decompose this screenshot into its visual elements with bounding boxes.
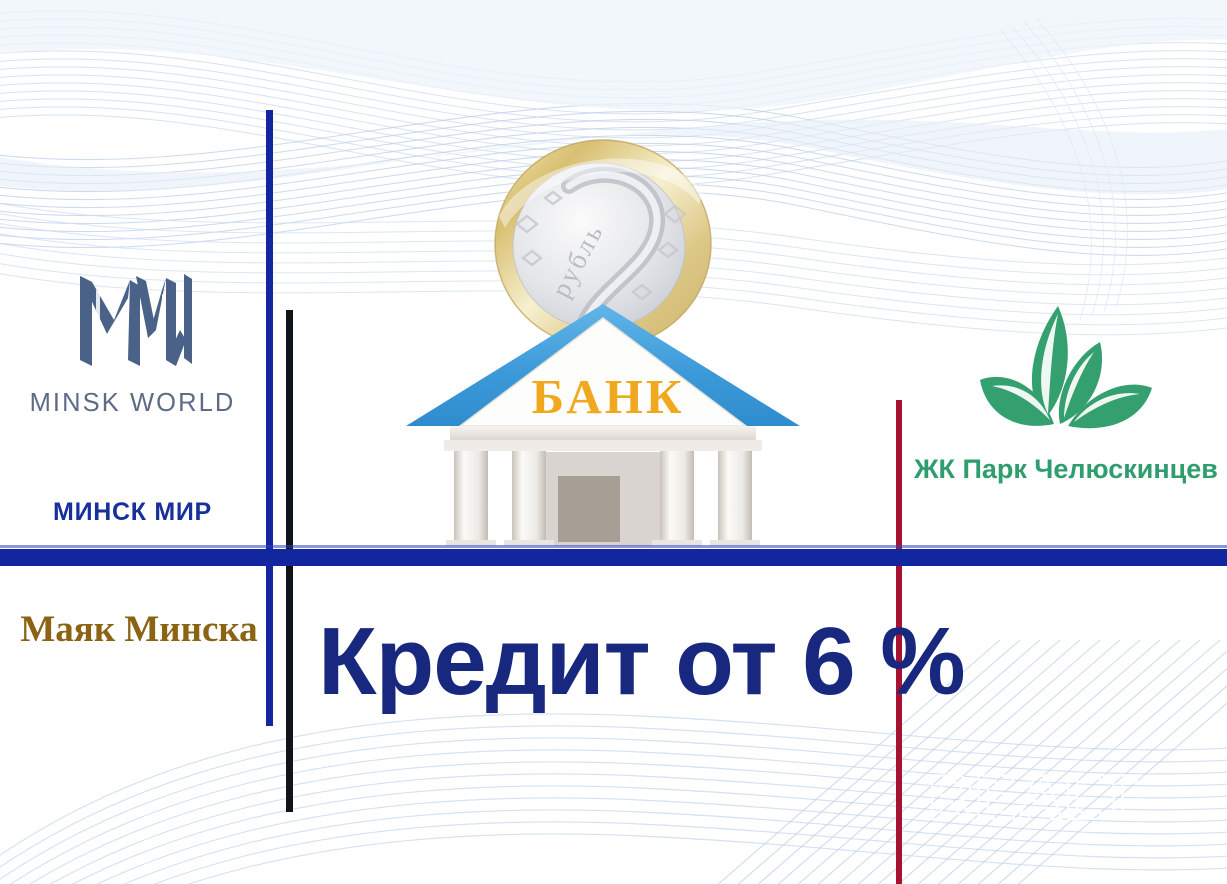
advertising-poster: MINSK WORLD МИНСК МИР Маяк Минска [0, 0, 1227, 884]
mw-monogram-icon [74, 268, 192, 373]
park-chelyuskintsev-label: ЖК Парк Челюскинцев [905, 454, 1227, 485]
bank-building-with-coin-icon: рубль [398, 96, 818, 546]
divider-vertical-blue [266, 110, 273, 726]
brand-mayak-minska: Маяк Минска [14, 608, 264, 651]
bank-illustration: рубль [398, 96, 818, 546]
bank-building-label: БАНК [398, 368, 818, 425]
green-leaf-icon [940, 298, 1192, 448]
divider-horizontal-blue [0, 549, 1227, 566]
brand-minsk-world: MINSK WORLD [10, 268, 255, 417]
minsk-world-wordmark: MINSK WORLD [10, 391, 255, 417]
page-title: Кредит от 6 % [318, 612, 965, 713]
brand-park-chelyuskintsev: ЖК Парк Челюскинцев [905, 298, 1227, 485]
minsk-world-name-ru: МИНСК МИР [10, 498, 255, 527]
realt-watermark: REALT [928, 762, 1138, 834]
